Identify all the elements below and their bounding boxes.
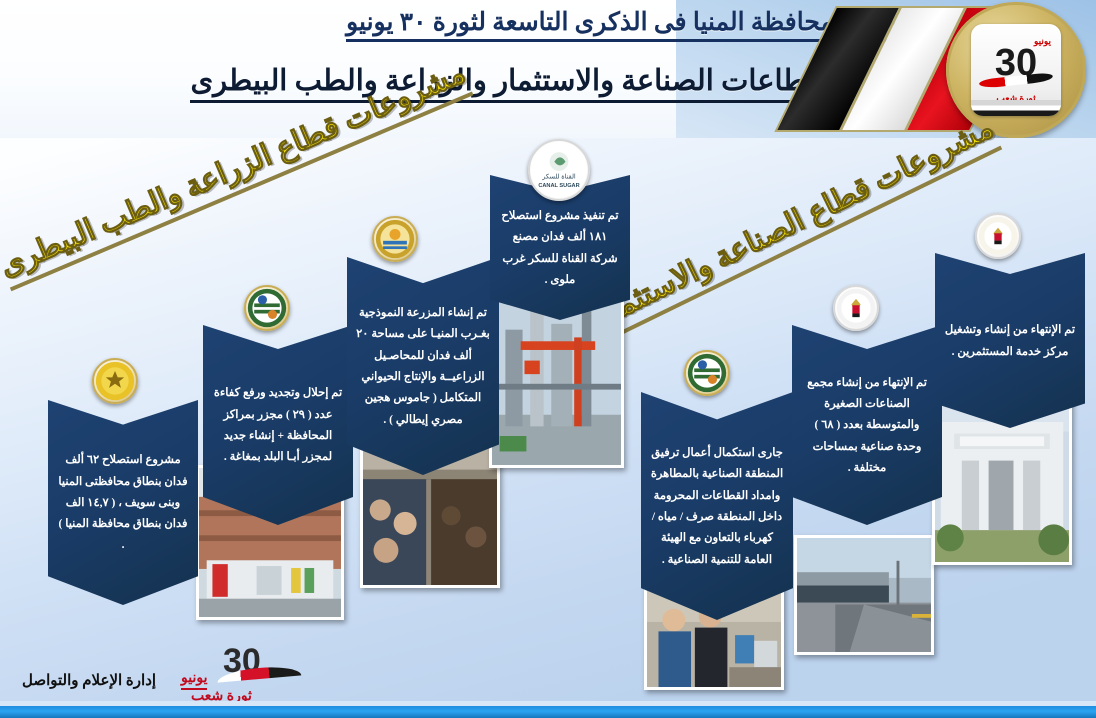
page-title-line2: قطاعات الصناعة والاستثمار والزراعة والطب… (190, 63, 821, 103)
card-slaughterhouses: تم إحلال وتجديد ورفع كفاءة عدد ( ٢٩ ) مج… (203, 325, 353, 525)
card-text: تم تنفيذ مشروع استصلاح ١٨١ ألف فدان مصنع… (499, 206, 621, 291)
june30-badge-inner: يونيو 30 ثورة شعب (971, 24, 1061, 116)
card-text: تم الإنتهاء من إنشاء مجمع الصناعات الصغي… (801, 373, 933, 479)
footer-department-label: إدارة الإعلام والتواصل (22, 671, 156, 690)
svg-text:CANAL SUGAR: CANAL SUGAR (538, 183, 579, 189)
card-text: جارى استكمال أعمال ترفيق المنطقة الصناعي… (650, 443, 784, 571)
card-model-farm: تم إنشاء المزرعة النموذجية بغـرب المنيـا… (347, 257, 499, 475)
trade-industry-ministry-crest-icon (833, 285, 879, 331)
card-text: تم الإنتهاء من إنشاء وتشغيل مركز خدمة ال… (944, 320, 1076, 363)
card-text: تم إنشاء المزرعة النموذجية بغـرب المنيـا… (356, 303, 490, 431)
agriculture-ministry-crest-icon (372, 216, 418, 262)
canal-sugar-logo-icon: القناة للسكر CANAL SUGAR (528, 139, 590, 201)
infographic-canvas: حصاد محافظة المنيا فى الذكرى التاسعة لثو… (0, 0, 1096, 718)
svg-text:القناة للسكر: القناة للسكر (541, 172, 576, 180)
card-text: تم إحلال وتجديد ورفع كفاءة عدد ( ٢٩ ) مج… (212, 383, 344, 468)
footer-june30-logo: 30 يونيو ثورة شعب (175, 644, 305, 706)
photo-industrial-road (794, 535, 934, 655)
card-sme-complex: تم الإنتهاء من إنشاء مجمع الصناعات الصغي… (792, 325, 942, 525)
footer-logo-june: يونيو (181, 670, 207, 690)
page-title-line1: حصاد محافظة المنيا فى الذكرى التاسعة لثو… (346, 7, 896, 42)
egypt-eagle-gold-crest-icon (92, 358, 138, 404)
card-text: مشروع استصلاح ٦٢ ألف فدان بنطاق محافظتى … (57, 450, 189, 556)
card-reclamation-62k: مشروع استصلاح ٦٢ ألف فدان بنطاق محافظتى … (48, 400, 198, 605)
card-investor-service-center: تم الإنتهاء من إنشاء وتشغيل مركز خدمة ال… (935, 253, 1085, 428)
minya-governorate-crest-icon (244, 285, 290, 331)
footer-bar (0, 706, 1096, 718)
minya-governorate-crest-icon (684, 350, 730, 396)
header: حصاد محافظة المنيا فى الذكرى التاسعة لثو… (0, 0, 1096, 138)
investment-authority-crest-icon (975, 213, 1021, 259)
card-matahra-industrial-zone: جارى استكمال أعمال ترفيق المنطقة الصناعي… (641, 392, 793, 620)
